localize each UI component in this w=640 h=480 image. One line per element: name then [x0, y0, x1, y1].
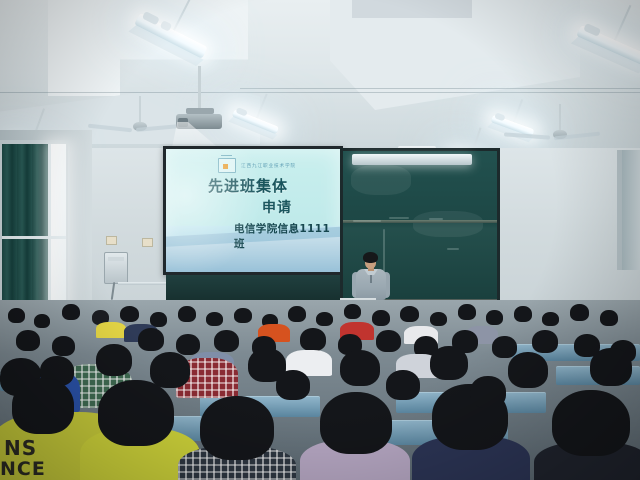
chalk-mark: [447, 248, 459, 250]
window-mullion-h: [2, 236, 66, 239]
projector: [176, 112, 222, 132]
foreground-head-center: [200, 396, 274, 460]
presenter-hair: [363, 252, 378, 263]
audience-head: [300, 328, 326, 351]
audience-head: [234, 308, 252, 323]
audience-head: [344, 304, 361, 319]
chalk-smear: [413, 211, 483, 237]
audience-head: [288, 306, 306, 322]
audience-head: [486, 310, 503, 325]
chalk-mark: [429, 218, 443, 220]
foreground-head-left: [12, 378, 74, 434]
audience-head: [178, 306, 196, 322]
chalk-mark: [353, 220, 381, 222]
fan-rod: [139, 96, 141, 124]
audience-head: [430, 312, 447, 326]
audience-head: [52, 336, 75, 356]
audience-head: [400, 306, 419, 322]
audience-head: [120, 306, 139, 322]
audience-head: [492, 336, 517, 358]
slide-glare: [166, 149, 270, 272]
screen-lower-panel: [166, 275, 340, 301]
audience-head: [16, 330, 40, 351]
yellow-shirt-text-line2: NCE: [0, 460, 46, 480]
fan-rod: [559, 104, 561, 132]
audience-head: [206, 312, 223, 326]
audience-head-near: [340, 350, 380, 386]
ceiling-fan-left: [110, 122, 170, 134]
audience-head: [570, 304, 589, 321]
right-window-frame: [617, 150, 622, 270]
audience-head: [376, 330, 401, 352]
audience-head-near: [590, 348, 632, 386]
audience-head: [514, 306, 532, 322]
ceiling-fan-right: [530, 130, 590, 142]
foreground-head-center-left: [98, 380, 174, 446]
ceiling-edge-line-2: [240, 88, 640, 89]
projector-mount-rod: [198, 66, 201, 114]
audience-head: [386, 370, 420, 400]
audience-head: [470, 376, 506, 408]
audience-head: [600, 310, 618, 326]
wall-outlet-2[interactable]: [142, 238, 153, 247]
audience-head: [276, 370, 310, 400]
audience-head-near: [96, 344, 132, 376]
audience-head: [176, 334, 200, 355]
audience-shoulders-yellow: [96, 322, 126, 338]
chalk-mark: [389, 217, 409, 219]
audience-head: [372, 310, 390, 326]
lecture-hall-photo: 江西九江职业技术学院 先进班集体 申请 电信学院信息1111班: [0, 0, 640, 480]
foreground-head-center-right: [320, 392, 392, 454]
foreground-head-far-right: [552, 390, 630, 456]
presenter: [352, 252, 390, 304]
chalk-smear: [351, 165, 411, 195]
audience-head: [62, 304, 80, 320]
yellow-shirt-text-line1: NS: [4, 438, 37, 459]
wall-control-box[interactable]: [104, 252, 128, 284]
ceiling-edge-line: [0, 92, 640, 93]
audience-head: [138, 328, 164, 351]
wall-outlet-1[interactable]: [106, 236, 117, 245]
audience-head: [34, 314, 50, 328]
blackboard-lamp: [352, 154, 472, 165]
audience-area: NS NCE: [0, 300, 640, 480]
audience-head: [542, 312, 559, 326]
audience-head-near: [430, 346, 468, 380]
audience-head: [214, 330, 239, 352]
slide-surface: 江西九江职业技术学院 先进班集体 申请 电信学院信息1111班: [166, 149, 340, 272]
audience-head-near: [150, 352, 190, 388]
audience-head: [532, 330, 558, 353]
audience-head-near: [508, 352, 548, 388]
audience-head: [316, 312, 333, 326]
projection-screen: 江西九江职业技术学院 先进班集体 申请 电信学院信息1111班: [163, 146, 343, 275]
ceiling-shade-patch: [352, 0, 472, 18]
audience-head: [458, 304, 476, 320]
audience-head: [8, 308, 25, 323]
